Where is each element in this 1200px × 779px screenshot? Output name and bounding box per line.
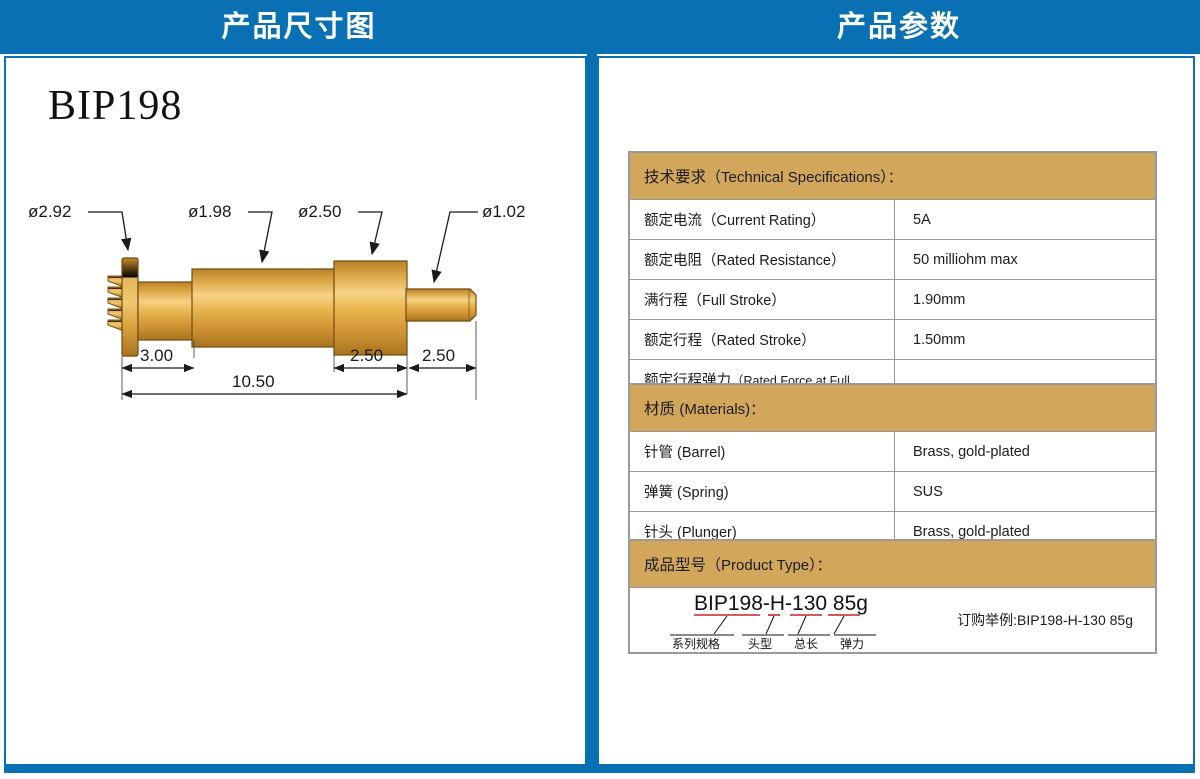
type-heading-en: （Product Type）： [706, 557, 832, 574]
table-row: 满行程（Full Stroke） 1.90mm [630, 280, 1156, 320]
part-number-code: BIP198-H-130 85g [694, 592, 868, 615]
row-label-en: （Full Stroke） [688, 293, 786, 309]
row-value: SUS [895, 472, 1156, 512]
diameter-callout-292: ø2.92 [28, 202, 128, 250]
row-label-cn: 额定行程 [644, 333, 702, 349]
pogo-pin-technical-drawing: ø2.92 ø1.98 ø2.50 ø1.02 3.00 [10, 150, 580, 400]
table-section-header: 材质 (Materials)： [630, 385, 1156, 432]
table-row: 额定电阻（Rated Resistance） 50 milliohm max [630, 240, 1156, 280]
row-label-en: (Spring) [677, 485, 729, 501]
row-label-en: (Barrel) [677, 445, 725, 461]
row-label-en: （Rated Stroke） [702, 333, 816, 349]
model-number-label: BIP198 [48, 82, 182, 130]
dim-text-300: 3.00 [140, 346, 173, 365]
row-value: 5A [895, 200, 1156, 240]
row-label-en: （Rated Resistance） [702, 253, 845, 269]
table-section-header: 技术要求（Technical Specifications）： [630, 153, 1156, 200]
spec-heading-cn: 技术要求 [644, 169, 706, 186]
caption-head-type: 头型 [748, 637, 772, 651]
table-row: 弹簧 (Spring) SUS [630, 472, 1156, 512]
row-value: 1.90mm [895, 280, 1156, 320]
diameter-callout-250: ø2.50 [298, 202, 382, 254]
callout-text-102: ø1.02 [482, 202, 525, 221]
header-bar-left: 产品尺寸图 [0, 0, 598, 54]
callout-text-292: ø2.92 [28, 202, 71, 221]
table-row: 额定电流（Current Rating） 5A [630, 200, 1156, 240]
materials-table: 材质 (Materials)： 针管 (Barrel) Brass, gold-… [628, 383, 1157, 553]
diameter-callout-198: ø1.98 [188, 202, 272, 262]
diameter-callout-102: ø1.02 [434, 202, 525, 282]
plunger-pin [406, 289, 476, 321]
dim-text-250-b: 2.50 [422, 346, 455, 365]
callout-text-198: ø1.98 [188, 202, 231, 221]
row-label-cn: 额定电阻 [644, 253, 702, 269]
product-type-table: 成品型号（Product Type）： BIP198-H-130 85g [628, 539, 1157, 654]
table-row: BIP198-H-130 85g [630, 588, 1156, 653]
order-example-text: 订购举例:BIP198-H-130 85g [957, 610, 1133, 630]
panel-divider [587, 54, 597, 773]
caption-spring-force: 弹力 [840, 637, 864, 651]
row-value: Brass, gold-plated [895, 432, 1156, 472]
table-section-header: 成品型号（Product Type）： [630, 541, 1156, 588]
part-number-breakdown-diagram: BIP198-H-130 85g [662, 590, 912, 652]
crown-flange [122, 258, 138, 356]
spec-heading-en: （Technical Specifications）： [706, 169, 903, 186]
row-label-en: （Current Rating） [702, 213, 825, 229]
type-heading-cn: 成品型号 [644, 557, 706, 574]
table-row: 针管 (Barrel) Brass, gold-plated [630, 432, 1156, 472]
row-label-cn: 针管 [644, 445, 673, 461]
caption-leaders [714, 616, 844, 634]
materials-heading-en: (Materials)： [679, 401, 765, 418]
pin-geometry [108, 258, 476, 356]
row-value: 50 milliohm max [895, 240, 1156, 280]
dim-text-1050: 10.50 [232, 372, 275, 391]
lower-barrel [334, 261, 407, 355]
caption-total-length: 总长 [794, 637, 818, 651]
upper-barrel [192, 269, 336, 347]
left-panel-title: 产品尺寸图 [221, 13, 376, 42]
neck-shaft [138, 282, 194, 340]
right-panel-title: 产品参数 [837, 13, 961, 42]
materials-heading-cn: 材质 [644, 401, 675, 418]
linear-dimensions: 3.00 2.50 2.50 10.50 13.00 [122, 346, 476, 400]
row-label-cn: 额定电流 [644, 213, 702, 229]
technical-specifications-table: 技术要求（Technical Specifications）： 额定电流（Cur… [628, 151, 1157, 420]
dim-text-1300: 13.00 [268, 397, 311, 400]
row-value: 1.50mm [895, 320, 1156, 360]
row-label-cn: 满行程 [644, 293, 688, 309]
product-datasheet: 产品尺寸图 产品参数 BIP198 [0, 0, 1200, 779]
row-label-cn: 弹簧 [644, 485, 673, 501]
header-bar-right: 产品参数 [598, 0, 1200, 54]
callout-text-250: ø2.50 [298, 202, 341, 221]
caption-series: 系列规格 [672, 636, 720, 651]
dim-text-250-a: 2.50 [350, 346, 383, 365]
table-row: 额定行程（Rated Stroke） 1.50mm [630, 320, 1156, 360]
